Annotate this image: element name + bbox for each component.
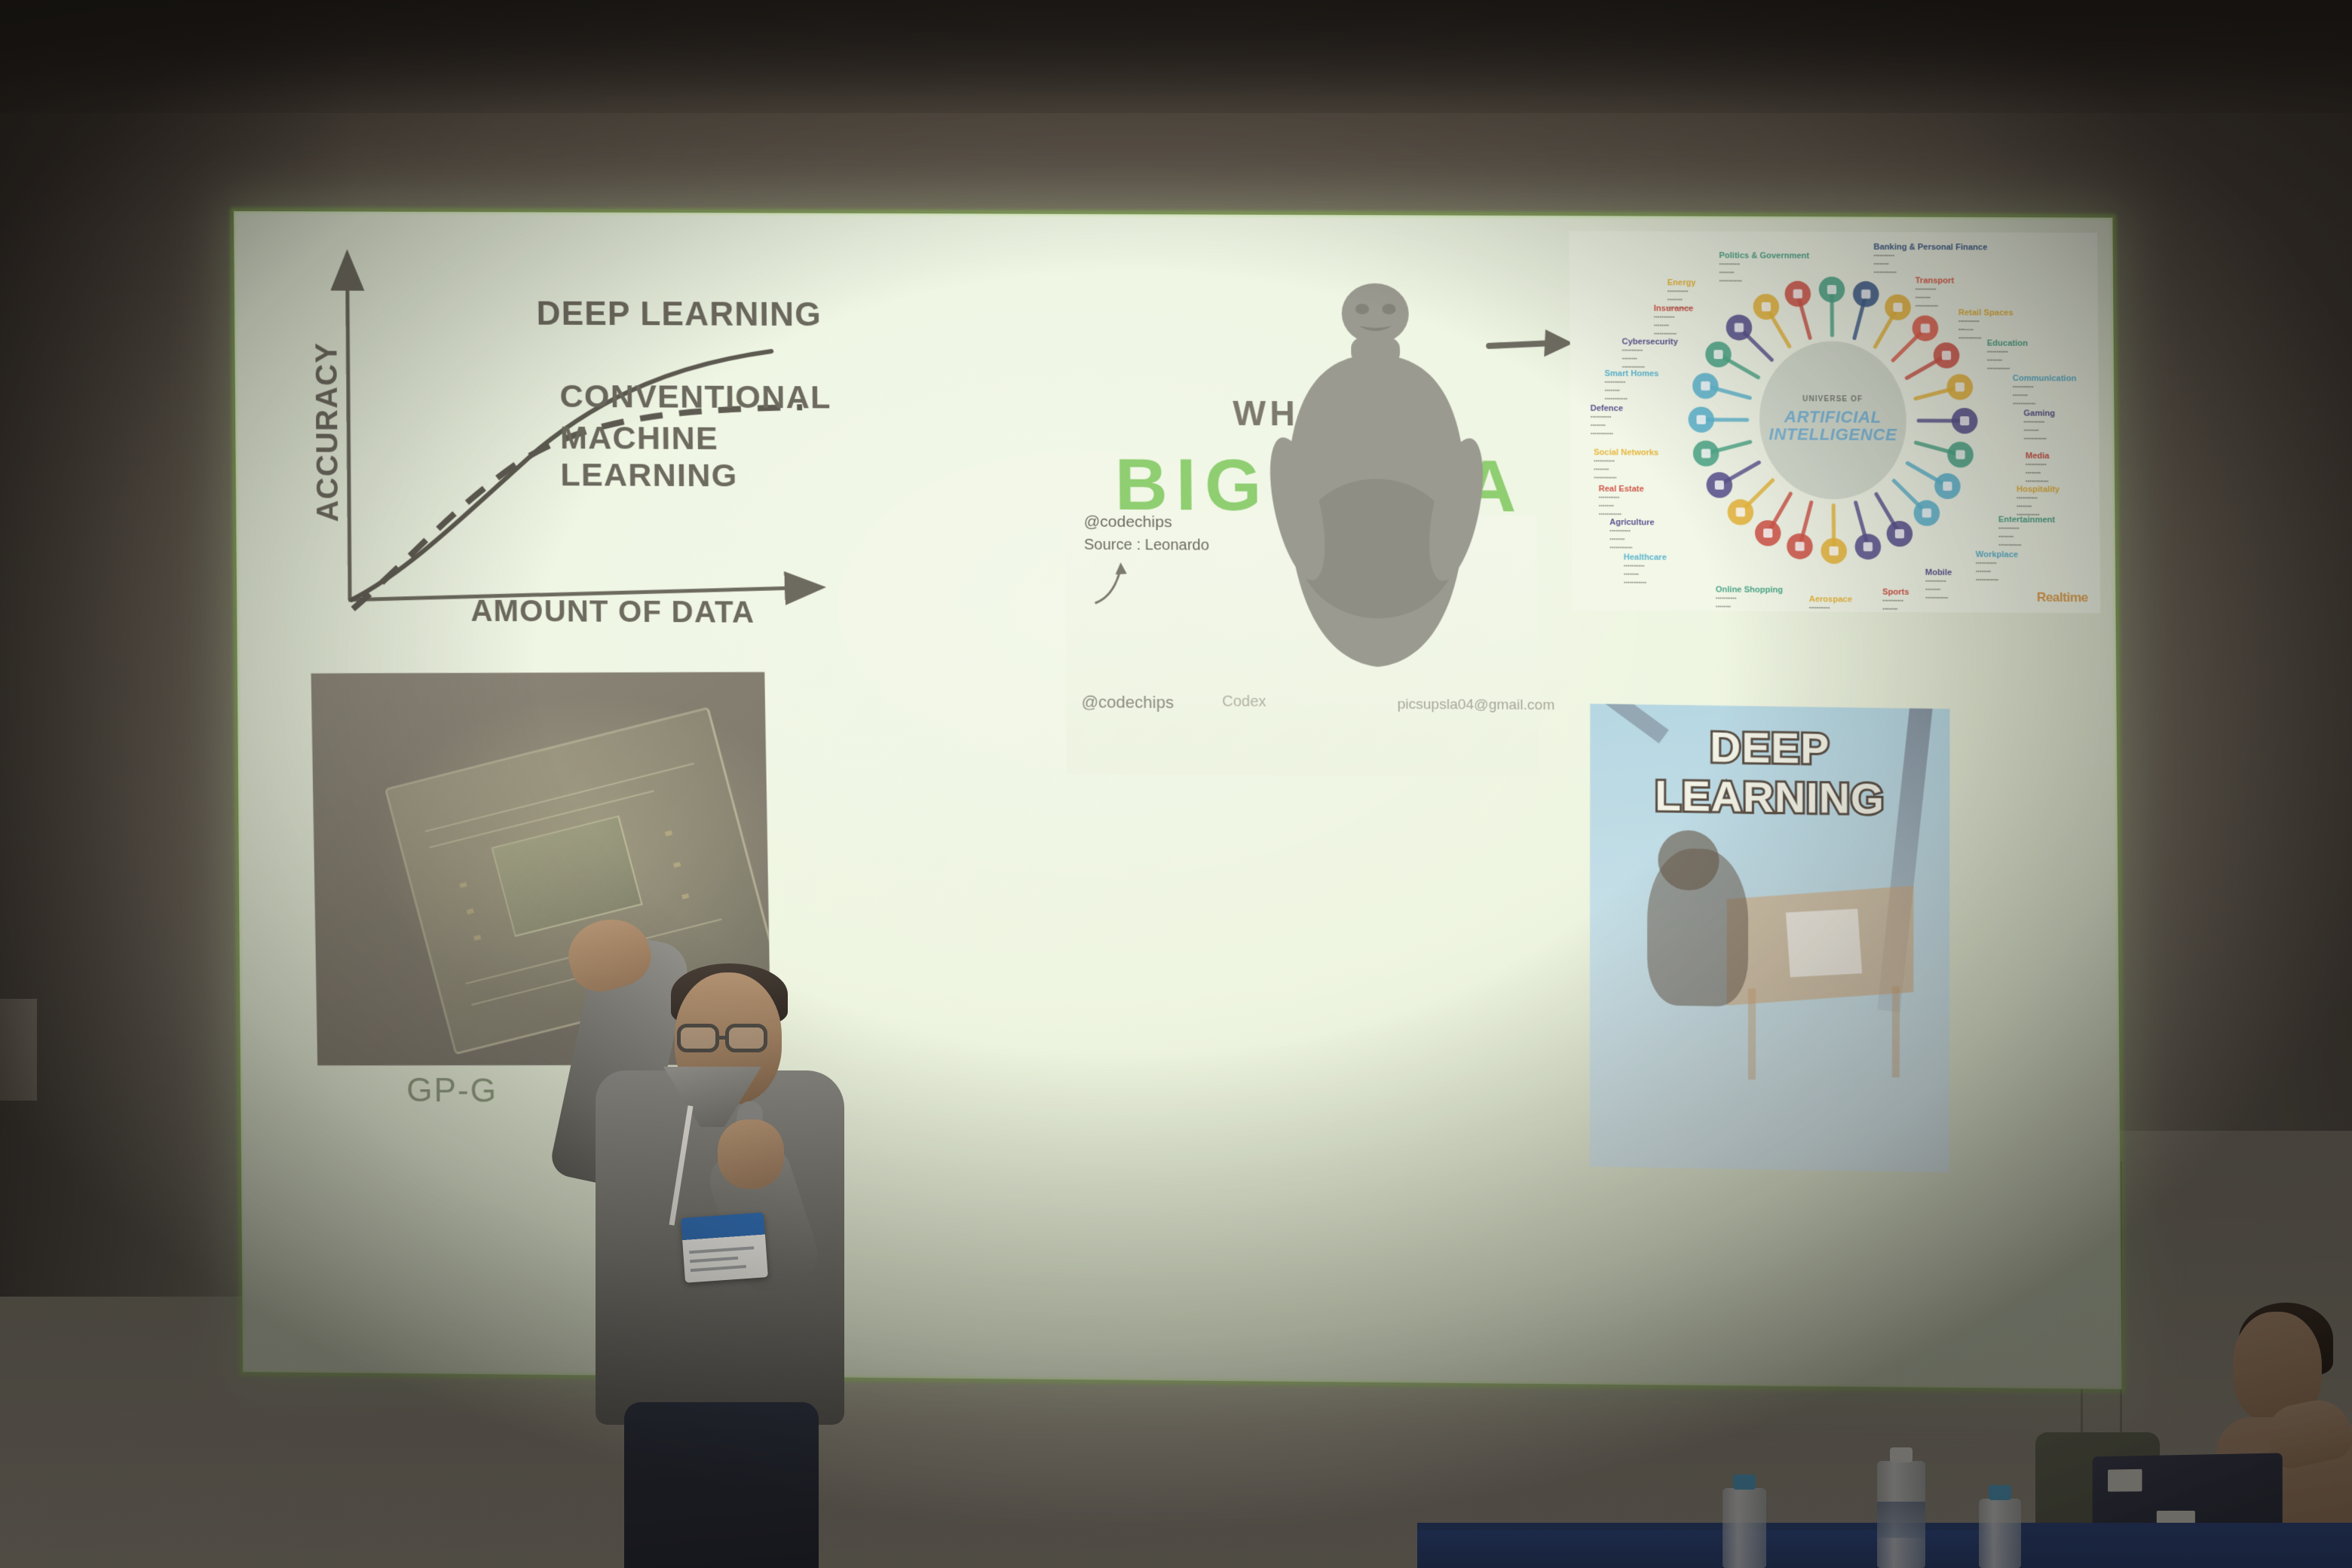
chart-label-conventional-1: CONVENTIONAL [559,378,831,417]
infographic-label: Hospitality [2017,485,2060,494]
badge-text-line [691,1265,746,1272]
chart-label-deep-learning: DEEP LEARNING [536,296,822,335]
infographic-label-detail: ▪▪▪▪▪▪▪▪▪▪▪▪▪▪▪▪▪▪▪▪▪▪▪▪▪▪▪▪▪▪▪ [2023,419,2047,444]
infographic-label: Aerospace [1809,595,1852,604]
speaker-presenter [550,927,942,1568]
laptop-sticker [2108,1469,2142,1492]
infographic-label: Retail Spaces [1958,308,2014,317]
underwater-person-head [1658,830,1720,891]
infographic-label-detail: ▪▪▪▪▪▪▪▪▪▪▪▪▪▪▪▪▪▪▪▪▪▪▪▪▪▪▪▪▪▪▪ [1609,528,1632,553]
infographic-node-glyph [1795,542,1804,551]
infographic-node-glyph [1864,542,1873,551]
gpu-component [681,893,689,899]
infographic-label-detail: ▪▪▪▪▪▪▪▪▪▪▪▪▪▪▪▪▪▪▪▪▪▪▪▪▪▪▪▪▪▪▪ [2013,384,2036,409]
projection-screen: DEEP LEARNING CONVENTIONAL MACHINE LEARN… [234,211,2122,1389]
big-data-note: @codechips Source : Leonardo [1084,513,1267,555]
infographic-node-glyph [1922,509,1931,518]
badge-text-line [689,1246,754,1254]
infographic-node-glyph [1943,482,1952,491]
desk-leg [1748,988,1756,1080]
chart-x-axis-label: AMOUNT OF DATA [470,595,755,630]
infographic-label: Mobile [1925,568,1952,577]
infographic-node-glyph [1736,507,1745,516]
infographic-label-detail: ▪▪▪▪▪▪▪▪▪▪▪▪▪▪▪▪▪▪▪▪▪▪▪▪▪▪▪▪▪▪▪ [1987,349,2011,374]
infographic-label-detail: ▪▪▪▪▪▪▪▪▪▪▪▪▪▪▪▪▪▪▪▪▪▪▪▪▪▪▪▪▪▪▪ [1605,379,1628,404]
infographic-node-glyph [1715,480,1724,489]
gpu-component [460,882,467,888]
infographic-node-glyph [1762,302,1771,311]
infographic-label: Energy [1668,278,1696,287]
gpu-trace [425,763,694,832]
infographic-label: Workplace [1976,550,2018,559]
infographic-label: Social Networks [1594,448,1658,457]
big-data-note-source: Source : Leonardo [1084,537,1266,555]
infographic-label-detail: ▪▪▪▪▪▪▪▪▪▪▪▪▪▪▪▪▪▪▪▪▪▪▪▪▪▪▪▪▪▪▪ [1594,458,1616,482]
curved-arrow-icon [1090,555,1159,608]
infographic-node-glyph [1701,381,1710,390]
infographic-label-detail: ▪▪▪▪▪▪▪▪▪▪▪▪▪▪▪▪▪▪▪▪▪▪▪▪▪▪▪▪▪▪▪ [2026,461,2049,486]
eyeglasses-icon [725,1024,767,1052]
infographic-label: Sports [1882,588,1909,597]
big-data-figure-illustration [1260,281,1493,707]
infographic-center-eyebrow: UNIVERSE OF [1775,395,1890,404]
infographic-label-detail: ▪▪▪▪▪▪▪▪▪▪▪▪▪▪▪▪▪▪▪▪▪▪▪▪▪▪▪▪▪▪▪ [1622,348,1645,372]
infographic-node-glyph [1955,450,1965,459]
pool-meme-title: DEEP LEARNING [1590,721,1949,825]
infographic-label: Real Estate [1599,485,1644,494]
speaker-mic-hand [718,1119,784,1189]
gpu-caption: GP-G [406,1072,498,1110]
infographic-label: Banking & Personal Finance [1873,243,1987,253]
infographic-label-detail: ▪▪▪▪▪▪▪▪▪▪▪▪▪▪▪▪▪▪▪▪▪▪▪▪▪▪▪▪▪▪▪ [1976,560,1999,585]
infographic-label: Transport [1916,276,1955,285]
infographic-node-glyph [1921,323,1930,332]
y-axis [348,257,351,600]
infographic-node-glyph [1827,285,1836,294]
bottle-cap [1989,1485,2011,1500]
infographic-label-detail: ▪▪▪▪▪▪▪▪▪▪▪▪▪▪▪▪▪▪▪▪▪▪▪▪▪▪▪▪▪▪▪ [1599,495,1622,519]
infographic-label: Entertainment [1998,516,2055,525]
infographic-label: Politics & Government [1719,251,1809,261]
gpu-component [664,830,672,836]
conference-badge [681,1212,768,1282]
water-bottle[interactable] [1979,1499,2021,1568]
infographic-label-detail: ▪▪▪▪▪▪▪▪▪▪▪▪▪▪▪▪▪▪▪▪▪▪▪▪▪▪▪▪▪▪▪ [1916,286,1939,311]
infographic-node-glyph [1713,350,1723,359]
infographic-label: Agriculture [1609,518,1655,527]
water-bottle[interactable] [1723,1488,1766,1568]
infographic-node-glyph [1830,547,1839,556]
ai-universe-infographic: UNIVERSE OF ARTIFICIAL INTELLIGENCE Poli… [1569,231,2100,613]
infographic-node-glyph [1701,449,1710,458]
water-bottle[interactable] [1877,1461,1925,1568]
infographic-node-glyph [1895,529,1904,538]
infographic-node-glyph [1942,351,1951,360]
badge-text-line [690,1257,738,1263]
eyeglasses-icon [677,1024,719,1052]
infographic-label: Gaming [2023,409,2055,418]
infographic-node-glyph [1697,415,1706,424]
infographic-label: Healthcare [1624,553,1667,562]
gpu-die-shape [491,815,642,936]
chart-label-conventional-2: MACHINE LEARNING [560,420,887,495]
gpu-component [467,908,474,914]
infographic-node-glyph [1960,416,1969,425]
infographic-label: Insurance [1654,304,1694,313]
infographic-label: Smart Homes [1604,369,1658,378]
bottle-cap [1890,1447,1913,1462]
infographic-label: Cybersecurity [1622,338,1677,347]
infographic-label-detail: ▪▪▪▪▪▪▪▪▪▪▪▪▪▪▪▪▪▪▪▪▪▪▪▪▪▪▪▪▪▪▪ [1882,598,1906,614]
big-data-watermark-handle: @codechips [1081,693,1174,713]
infographic-node-glyph [1793,289,1802,299]
infographic-node-glyph [1861,289,1870,299]
infographic-label-detail: ▪▪▪▪▪▪▪▪▪▪▪▪▪▪▪▪▪▪▪▪▪▪▪▪▪▪▪▪▪▪▪ [1998,525,2022,550]
bottle-cap [1733,1475,1756,1490]
infographic-label-detail: ▪▪▪▪▪▪▪▪▪▪▪▪▪▪▪▪▪▪▪▪▪▪▪▪▪▪▪▪▪▪▪ [1719,261,1741,286]
big-data-note-handle: @codechips [1084,513,1266,532]
deep-learning-pool-meme: DEEP LEARNING [1590,703,1950,1172]
eyeglasses-bridge [719,1036,727,1040]
infographic-label: Online Shopping [1716,585,1783,595]
speaker-trousers [624,1402,819,1568]
accuracy-vs-data-chart: DEEP LEARNING CONVENTIONAL MACHINE LEARN… [286,237,887,694]
infographic-logo: Realtime [2037,590,2088,606]
infographic-node-glyph [1893,303,1902,312]
underwater-paper [1785,909,1861,978]
conference-photo-scene: DEEP LEARNING CONVENTIONAL MACHINE LEARN… [0,0,2352,1568]
infographic-label: Education [1987,338,2028,348]
infographic-label-detail: ▪▪▪▪▪▪▪▪▪▪▪▪▪▪▪▪▪▪▪▪▪▪▪▪▪▪▪▪▪▪▪ [1654,314,1677,338]
gpu-component [473,934,481,940]
infographic-label: Media [2026,452,2050,461]
infographic-label-detail: ▪▪▪▪▪▪▪▪▪▪▪▪▪▪▪▪▪▪▪▪▪▪▪▪▪▪▪▪▪▪▪ [1624,563,1646,588]
desk-leg [1892,986,1900,1077]
infographic-label: Defence [1591,404,1623,413]
wall-fixture [0,999,39,1101]
big-data-watermark-email: picsupsla04@gmail.com [1398,697,1555,714]
infographic-center-title: ARTIFICIAL INTELLIGENCE [1768,408,1898,443]
infographic-node-glyph [1955,382,1965,391]
big-data-watermark-mid: Codex [1222,694,1266,711]
infographic-label-detail: ▪▪▪▪▪▪▪▪▪▪▪▪▪▪▪▪▪▪▪▪▪▪▪▪▪▪▪▪▪▪▪ [1591,414,1613,439]
infographic-node-glyph [1763,528,1772,537]
gpu-component [673,862,681,868]
infographic-label-detail: ▪▪▪▪▪▪▪▪▪▪▪▪▪▪▪▪▪▪▪▪▪▪▪▪▪▪▪▪▪▪▪ [1873,253,1897,277]
right-arrow-icon [1486,322,1578,368]
bottle-label [1877,1502,1925,1538]
infographic-label: Communication [2013,374,2077,383]
infographic-node-glyph [1735,323,1744,332]
infographic-label-detail: ▪▪▪▪▪▪▪▪▪▪▪▪▪▪▪▪▪▪▪▪▪▪▪▪▪▪▪▪▪▪▪ [1958,318,1982,343]
chart-y-axis-label: ACCURACY [310,326,345,537]
infographic-label-detail: ▪▪▪▪▪▪▪▪▪▪▪▪▪▪▪▪▪▪▪▪▪▪▪▪▪▪▪▪▪▪▪ [1925,578,1949,603]
infographic-label-detail: ▪▪▪▪▪▪▪▪▪▪▪▪▪▪▪▪▪▪▪▪▪▪▪▪▪▪▪▪▪▪▪ [1716,595,1738,613]
